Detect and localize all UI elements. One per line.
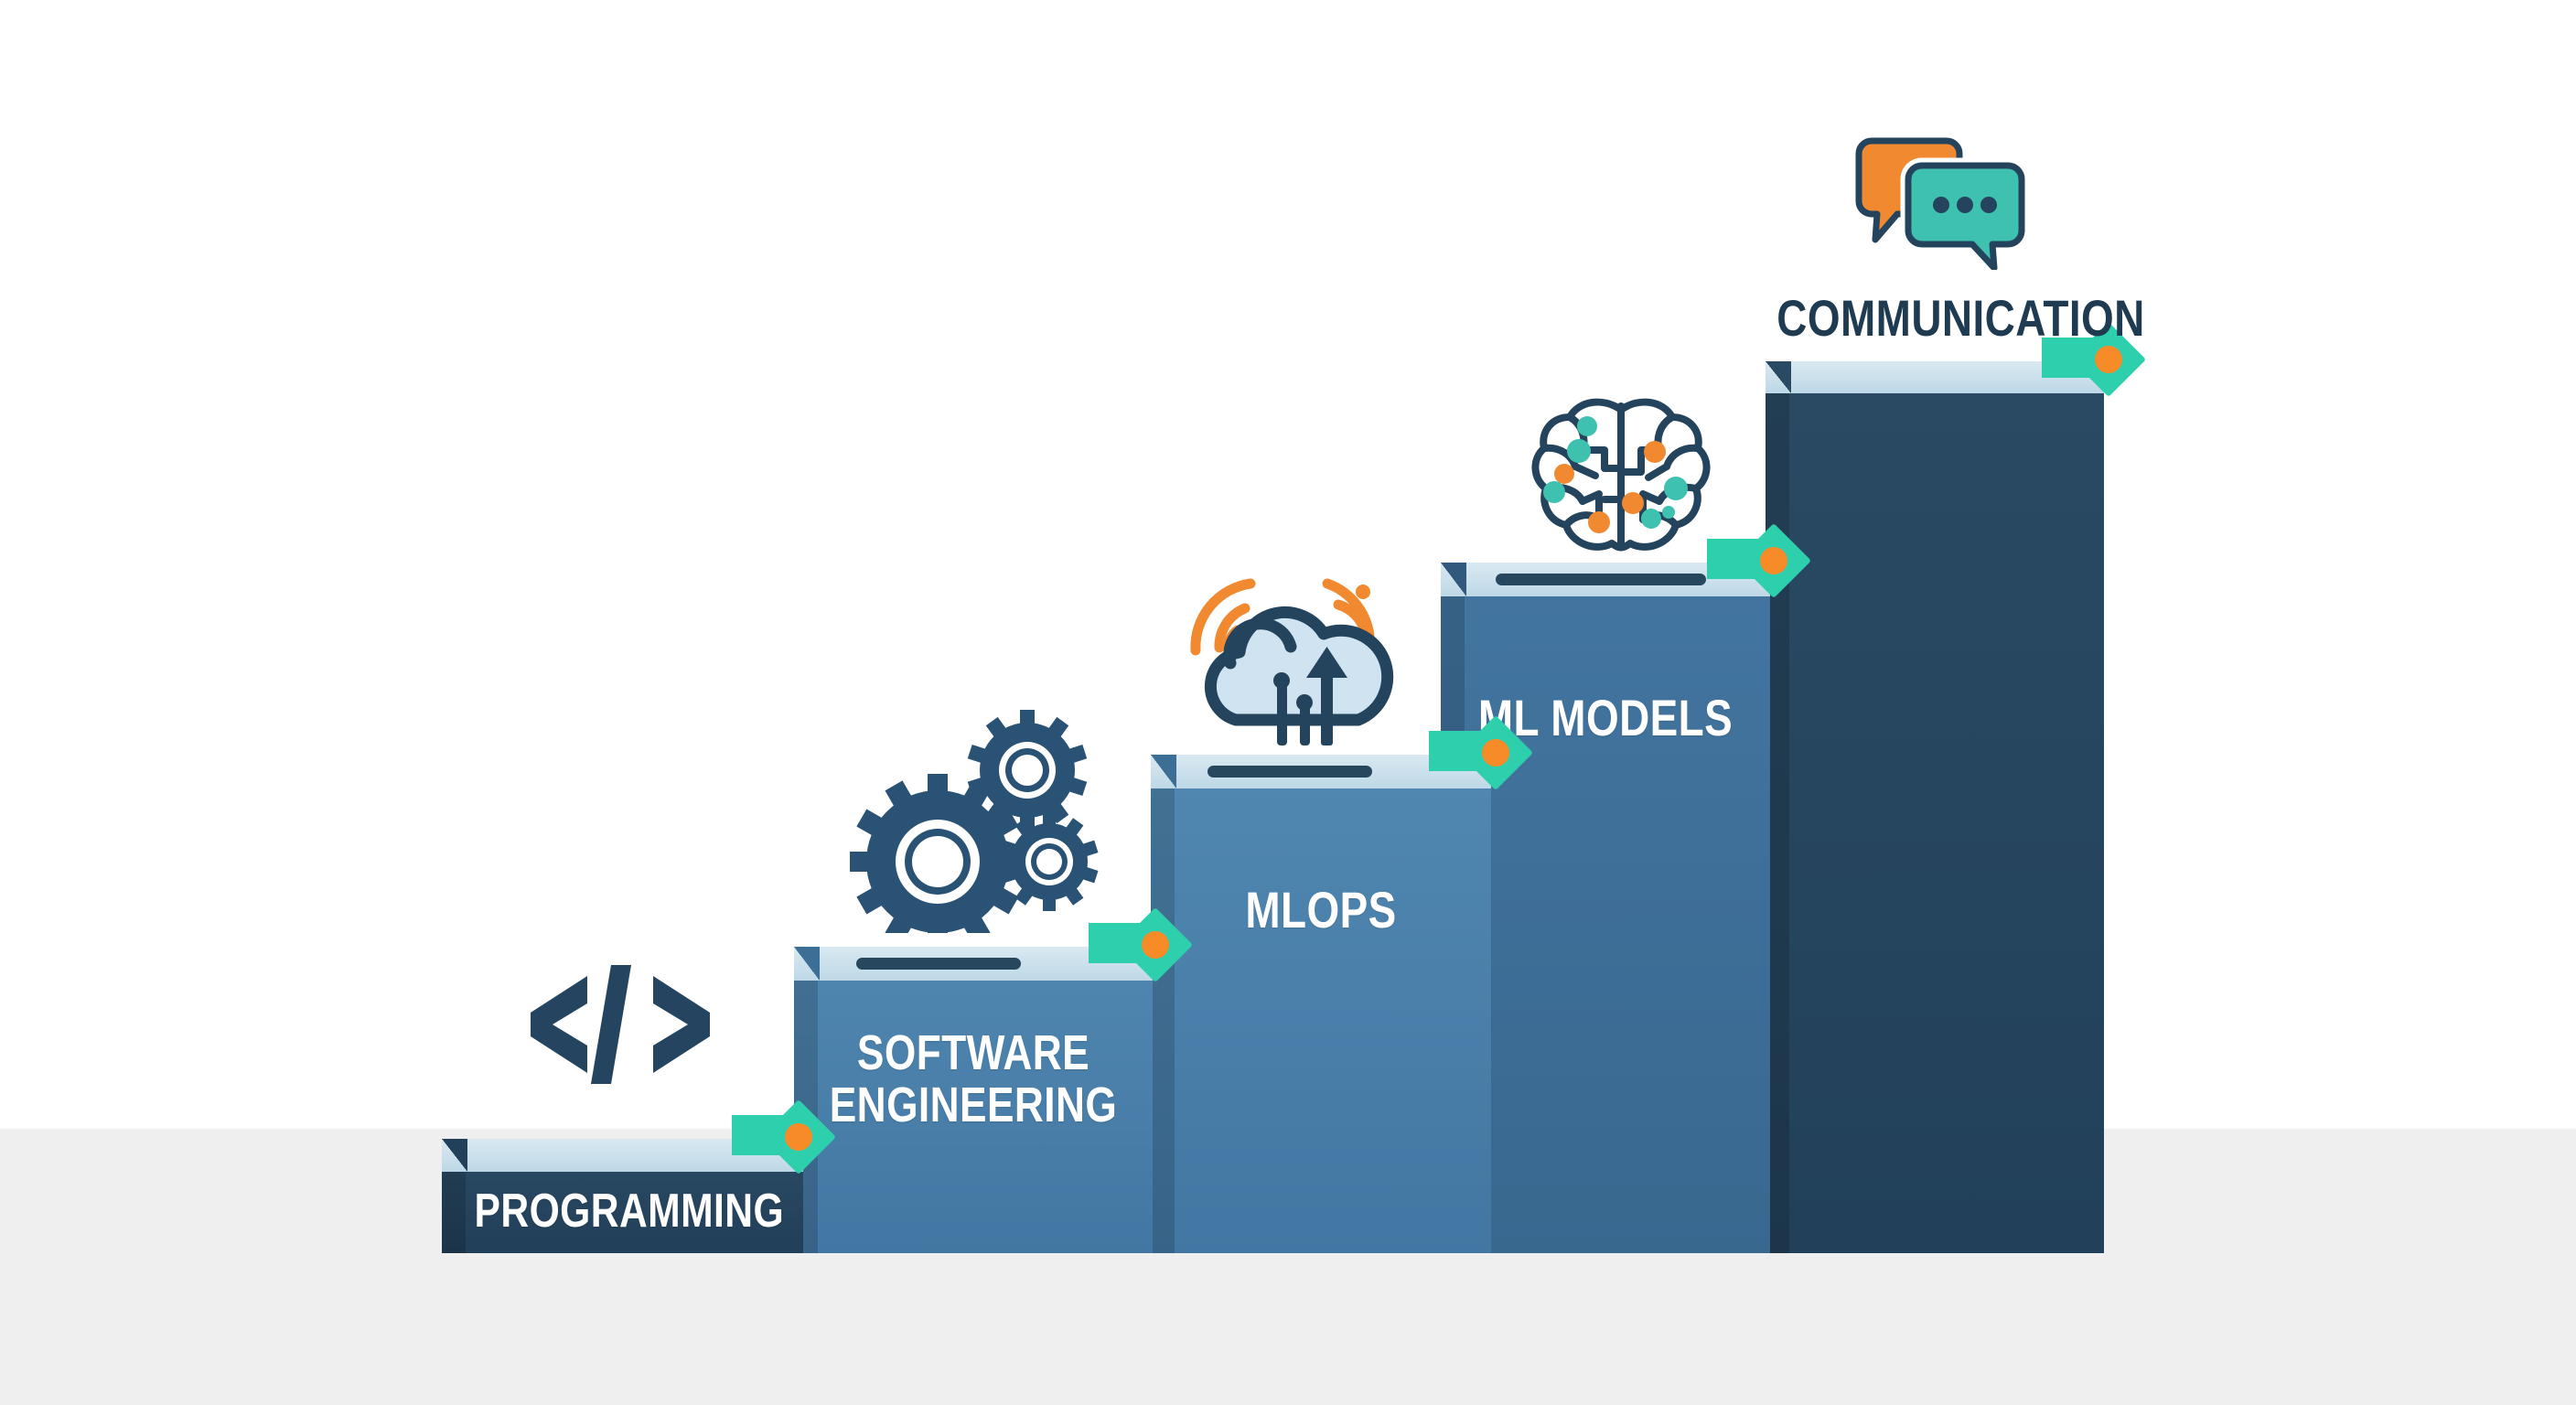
step-top-pill-line (856, 958, 1021, 970)
brain-network-icon (1529, 391, 1712, 561)
cloud-upload-icon (1175, 563, 1413, 759)
step-top-pill-line (1207, 766, 1372, 778)
step-label-software-engineering: SOFTWARE ENGINEERING (826, 1027, 1120, 1132)
marker-dot-icon (2095, 346, 2122, 373)
step-top-corner-wedge (1151, 755, 1176, 788)
step-front-face (1151, 755, 1491, 1253)
marker-mlops[interactable] (1429, 716, 1548, 794)
step-top-corner-wedge (1441, 563, 1466, 596)
marker-ml-models[interactable] (1707, 524, 1826, 602)
speech-bubbles-icon (1850, 137, 2033, 270)
step-top-corner-wedge (1766, 361, 1791, 393)
step-front-face (1766, 361, 2104, 1253)
step-label-communication: COMMUNICATION (1776, 291, 2129, 345)
step-label-programming: PROGRAMMING (475, 1186, 771, 1237)
marker-programming[interactable] (732, 1100, 851, 1178)
marker-dot-icon (1142, 931, 1169, 959)
step-label-mlops: MLOPS (1181, 883, 1460, 937)
marker-dot-icon (785, 1123, 812, 1151)
step-communication[interactable] (1766, 361, 2104, 1253)
step-top-corner-wedge (794, 947, 820, 981)
gears-icon (846, 704, 1111, 933)
step-top-corner-wedge (442, 1139, 467, 1172)
step-left-face (1151, 755, 1175, 1253)
code-brackets-icon (529, 965, 712, 1084)
step-mlops[interactable]: MLOPS (1151, 755, 1491, 1253)
step-top-pill-line (1496, 574, 1706, 585)
marker-dot-icon (1760, 547, 1787, 574)
marker-software-engineering[interactable] (1089, 908, 1207, 986)
infographic-canvas: ML MODELS MLOPS SOFTWARE ENGINEERING PRO… (0, 0, 2576, 1405)
marker-dot-icon (1482, 739, 1509, 767)
